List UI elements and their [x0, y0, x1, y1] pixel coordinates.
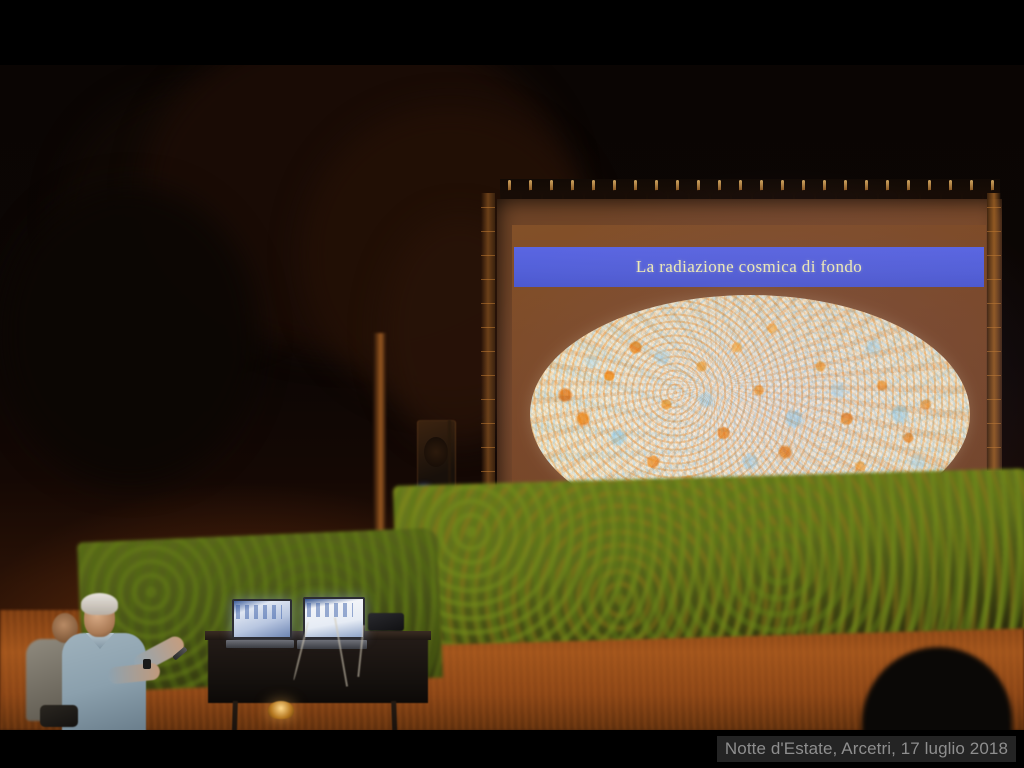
- laptop-keyboard: [297, 640, 367, 649]
- slide-parameters-band: Parametri fondamentali: H0 = 67.36 ± km/…: [514, 565, 984, 605]
- laptop-screen: [232, 599, 292, 639]
- screen-truss-right: [987, 193, 1001, 605]
- screen-clip-icon: [962, 179, 983, 201]
- presentation-slide: La radiazione cosmica di fondo ESA, risu…: [512, 225, 986, 607]
- screen-clip-icon: [815, 179, 836, 201]
- presenter-belt-pouch: [40, 705, 78, 727]
- screen-clip-icon: [773, 179, 794, 201]
- screen-clip-icon: [941, 179, 962, 201]
- screen-surround: La radiazione cosmica di fondo ESA, risu…: [497, 199, 1002, 603]
- loudspeaker-power-led: [421, 489, 427, 494]
- projection-screen: La radiazione cosmica di fondo ESA, risu…: [497, 185, 1002, 605]
- presenter-hair: [81, 593, 118, 615]
- slide-credit-band: ESA, risultati finali di PLANCK, 17 lugl…: [514, 543, 984, 565]
- screen-clip-icon: [521, 179, 542, 201]
- screen-clip-icon: [899, 179, 920, 201]
- screen-clip-icon: [626, 179, 647, 201]
- screen-clip-icon: [920, 179, 941, 201]
- tree-foliage-lower-left: [0, 185, 260, 485]
- screen-clip-icon: [689, 179, 710, 201]
- slide-parameters-line-1: Parametri fondamentali: H0 = 67.36 ± km/…: [591, 569, 906, 586]
- presenter-wristband: [143, 659, 151, 669]
- laptop-keyboard: [226, 640, 294, 648]
- laptop-screen-content: [236, 605, 282, 619]
- letterbox-top: [0, 0, 1024, 65]
- photo-stage: La radiazione cosmica di fondo ESA, risu…: [0, 0, 1024, 768]
- laptop-presenter[interactable]: [232, 599, 294, 648]
- table-lamp: [268, 701, 294, 719]
- slide-credit: ESA, risultati finali di PLANCK, 17 lugl…: [739, 548, 984, 560]
- night-scene: La radiazione cosmica di fondo ESA, risu…: [0, 65, 1024, 730]
- slide-parameters-line-2: energia oscura 68.5% ± 0.7%: [684, 585, 813, 601]
- screen-clip-icon: [542, 179, 563, 201]
- screen-clip-icon: [584, 179, 605, 201]
- cmb-map-container: [530, 295, 970, 533]
- cmb-map-texture: [530, 295, 970, 533]
- photo-caption-strip: Notte d'Estate, Arcetri, 17 luglio 2018: [717, 736, 1016, 762]
- table-leg: [231, 701, 238, 730]
- audience-silhouette-head: [862, 647, 1012, 730]
- table-leg: [391, 701, 398, 730]
- slide-title: La radiazione cosmica di fondo: [636, 257, 862, 277]
- projector-unit: [368, 613, 404, 631]
- parameters-prefix: Parametri fondamentali: H: [591, 570, 708, 582]
- screen-clip-icon: [605, 179, 626, 201]
- screen-clip-icon: [647, 179, 668, 201]
- speaker-stand-pole: [448, 420, 451, 600]
- screen-clip-icon: [794, 179, 815, 201]
- slide-title-band: La radiazione cosmica di fondo: [514, 247, 984, 287]
- screen-clip-icon: [710, 179, 731, 201]
- laptop-screen-content: [307, 603, 353, 617]
- screen-clip-icon: [731, 179, 752, 201]
- screen-clip-icon: [836, 179, 857, 201]
- screen-clip-icon: [668, 179, 689, 201]
- screen-clip-icon: [752, 179, 773, 201]
- parameters-rest: = 67.36 ± km/s/Mpc, T = 13.80 ± 0.02 Gyr…: [713, 570, 907, 582]
- photo-caption: Notte d'Estate, Arcetri, 17 luglio 2018: [725, 739, 1008, 759]
- screen-truss-left: [481, 193, 495, 605]
- screen-clip-icon: [857, 179, 878, 201]
- tree-trunk: [373, 333, 386, 533]
- screen-clip-icon: [563, 179, 584, 201]
- screen-clip-icon: [878, 179, 899, 201]
- loudspeaker-cone-icon: [424, 437, 448, 467]
- screen-clip-icon: [500, 179, 521, 201]
